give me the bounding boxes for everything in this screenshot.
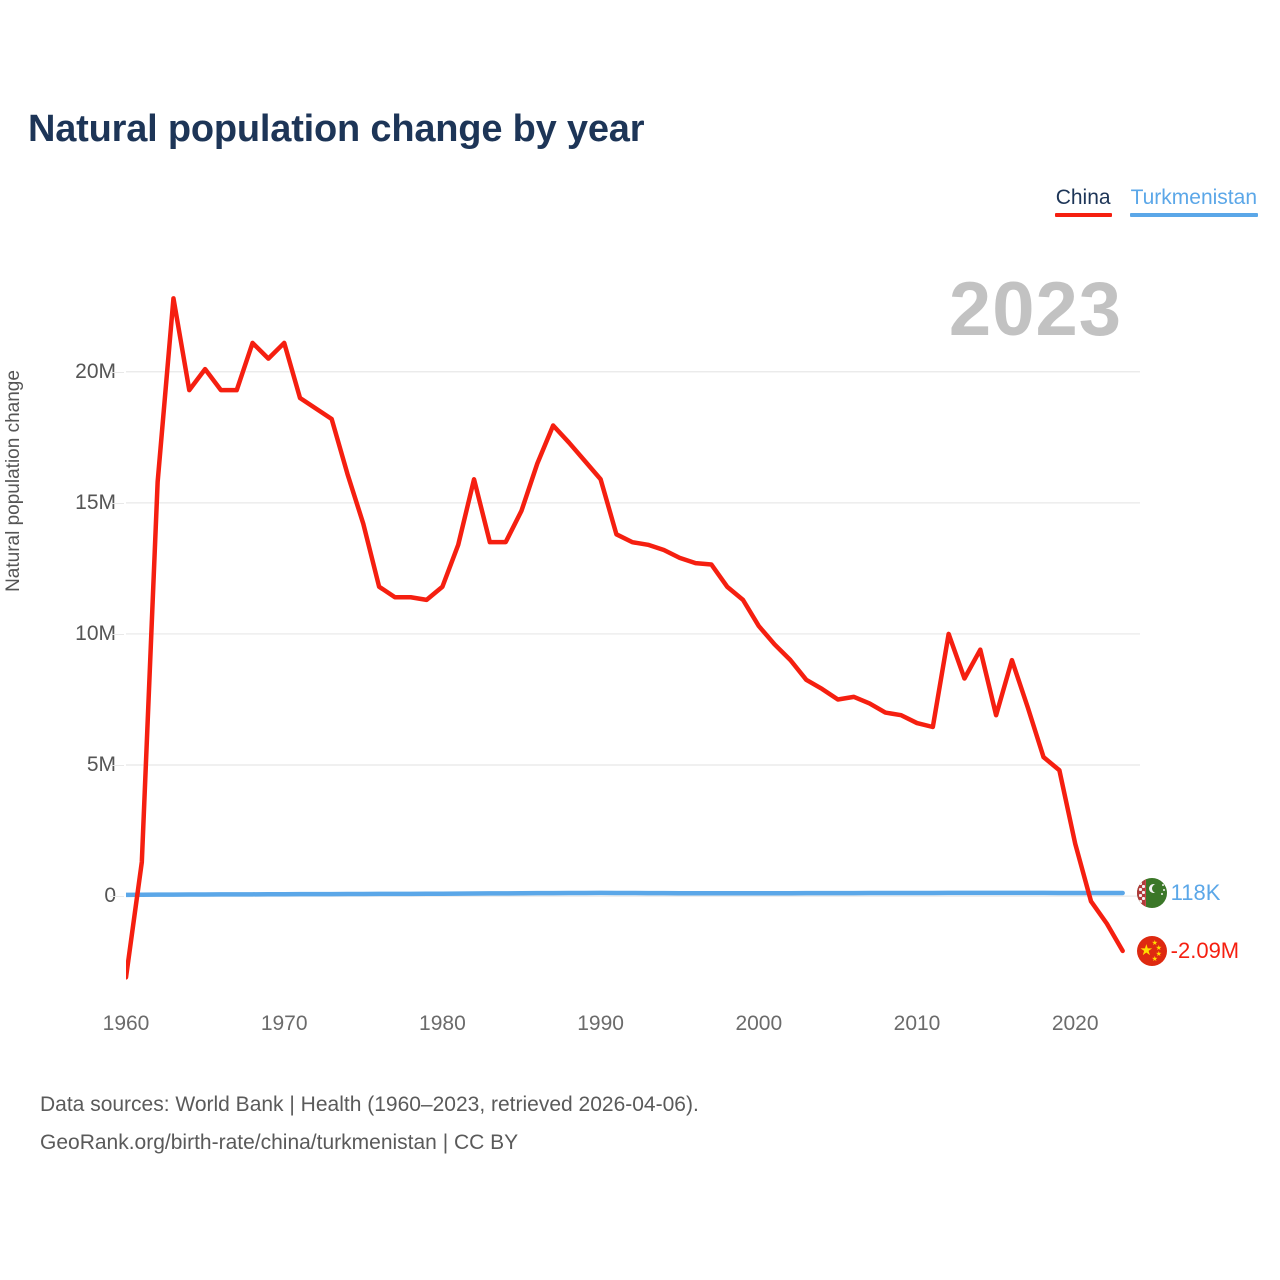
page-title: Natural population change by year — [28, 108, 644, 151]
plot-area — [126, 280, 1140, 980]
x-axis-tick-label: 2010 — [862, 1012, 972, 1036]
y-axis-tick-mark — [110, 896, 124, 897]
flag-china-icon: ★ ★ ★ ★ ★ — [1137, 936, 1167, 966]
gridlines — [126, 372, 1140, 896]
x-axis-tick-label: 1960 — [71, 1012, 181, 1036]
endpoint-turkmenistan[interactable]: 118K — [1137, 878, 1221, 908]
y-axis-tick-mark — [110, 765, 124, 766]
series-line-china — [126, 298, 1123, 977]
y-axis-tick-mark — [110, 634, 124, 635]
footer: Data sources: World Bank | Health (1960–… — [40, 1086, 699, 1162]
x-axis-tick-label: 2000 — [704, 1012, 814, 1036]
chart-page: Natural population change by year China … — [0, 0, 1280, 1280]
legend-label-turkmenistan: Turkmenistan — [1130, 185, 1258, 213]
legend-rule-china — [1055, 213, 1112, 217]
x-axis-tick-label: 1970 — [229, 1012, 339, 1036]
chart-svg — [126, 280, 1140, 980]
y-axis-tick-label: 10M — [16, 622, 116, 646]
chart-legend: China Turkmenistan — [1055, 185, 1258, 217]
y-axis-tick-label: 20M — [16, 360, 116, 384]
flag-turkmenistan-icon — [1137, 878, 1167, 908]
endpoint-value-turkmenistan: 118K — [1171, 880, 1221, 906]
y-axis-tick-label: 15M — [16, 491, 116, 515]
footer-line-1: Data sources: World Bank | Health (1960–… — [40, 1086, 699, 1124]
x-axis-tick-label: 1980 — [387, 1012, 497, 1036]
y-axis-tick-mark — [110, 372, 124, 373]
x-axis-tick-label: 2020 — [1020, 1012, 1130, 1036]
legend-label-china: China — [1055, 185, 1112, 213]
legend-item-china[interactable]: China — [1055, 185, 1112, 217]
footer-line-2: GeoRank.org/birth-rate/china/turkmenista… — [40, 1124, 699, 1162]
x-axis-tick-label: 1990 — [546, 1012, 656, 1036]
y-axis-tick-label: 5M — [16, 753, 116, 777]
endpoint-china[interactable]: ★ ★ ★ ★ ★ -2.09M — [1137, 936, 1239, 966]
y-axis-tick-label: 0 — [16, 884, 116, 908]
y-axis-tick-mark — [110, 503, 124, 504]
legend-rule-turkmenistan — [1130, 213, 1258, 217]
legend-item-turkmenistan[interactable]: Turkmenistan — [1130, 185, 1258, 217]
series-line-turkmenistan — [126, 893, 1123, 895]
endpoint-value-china: -2.09M — [1171, 938, 1239, 964]
